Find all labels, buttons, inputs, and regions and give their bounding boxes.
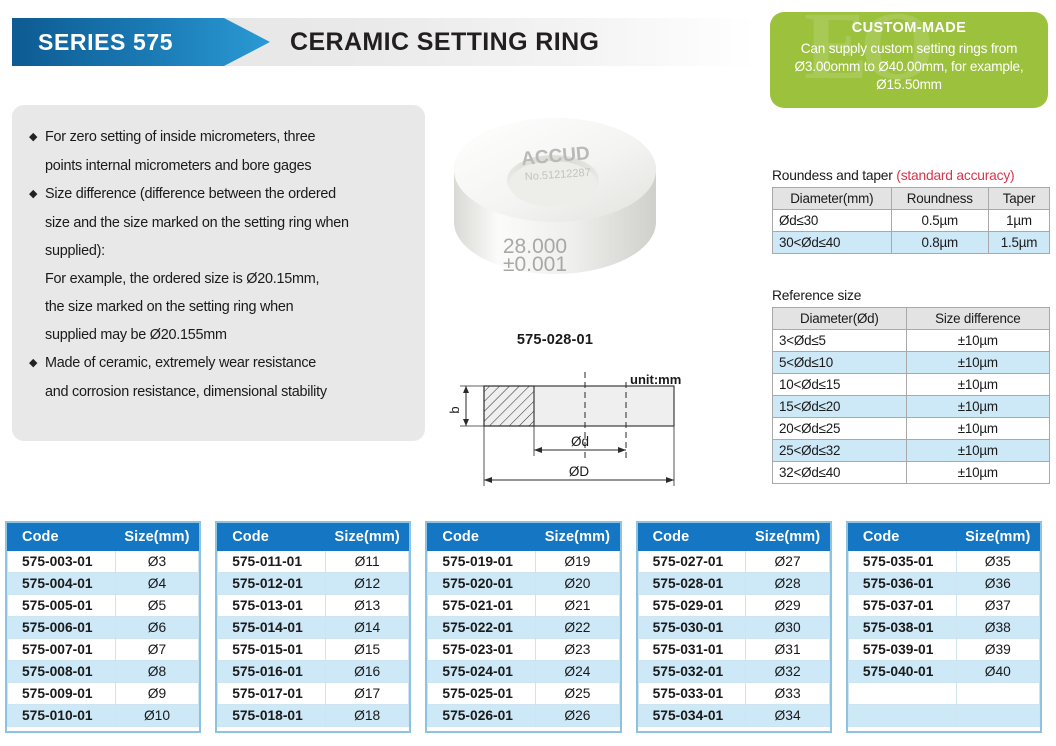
feature-bullet-item: ◆Size difference (difference between the… <box>28 180 409 208</box>
diameter-cell: 15<Ød≤20 <box>773 396 907 418</box>
reference-heading: Reference size <box>772 288 1050 303</box>
table-row: 3<Ød≤5±10µm <box>773 330 1050 352</box>
size-column-header: Size(mm) <box>536 524 619 551</box>
product-code-cell: 575-040-01 <box>848 661 956 683</box>
cross-section-diagram: b Ød ØD <box>448 368 748 498</box>
roundness-heading-accent: (standard accuracy) <box>896 168 1014 183</box>
value-cell: 0.8µm <box>891 232 988 254</box>
diameter-cell: 32<Ød≤40 <box>773 462 907 484</box>
table-row[interactable]: 575-005-01Ø5 <box>8 595 199 617</box>
table-header-row: Diameter(Ød)Size difference <box>773 308 1050 330</box>
feature-list-box: ◆For zero setting of inside micrometers,… <box>12 105 425 441</box>
code-tables-container: CodeSize(mm)575-003-01Ø3575-004-01Ø4575-… <box>0 521 1056 733</box>
product-code-cell: 575-027-01 <box>638 551 746 573</box>
product-size-cell: Ø16 <box>325 661 408 683</box>
table-row: 15<Ød≤20±10µm <box>773 396 1050 418</box>
product-code-cell: 575-034-01 <box>638 705 746 727</box>
product-size-cell: Ø8 <box>115 661 198 683</box>
table-row: Ød≤300.5µm1µm <box>773 210 1050 232</box>
product-code-cell: 575-011-01 <box>218 551 326 573</box>
product-code-cell <box>848 705 956 727</box>
table-row: 5<Ød≤10±10µm <box>773 352 1050 374</box>
product-code-cell: 575-007-01 <box>8 639 116 661</box>
product-size-cell: Ø9 <box>115 683 198 705</box>
table-row[interactable]: 575-015-01Ø15 <box>218 639 409 661</box>
reference-table-body: 3<Ød≤5±10µm5<Ød≤10±10µm10<Ød≤15±10µm15<Ø… <box>773 330 1050 484</box>
product-code-cell: 575-015-01 <box>218 639 326 661</box>
product-code-cell: 575-019-01 <box>428 551 536 573</box>
size-column-header: Size(mm) <box>956 524 1039 551</box>
product-size-cell: Ø6 <box>115 617 198 639</box>
code-table-4: CodeSize(mm)575-027-01Ø27575-028-01Ø2857… <box>636 521 832 733</box>
table-row[interactable]: 575-038-01Ø38 <box>848 617 1039 639</box>
bullet-diamond-icon: ◆ <box>28 349 45 377</box>
table-row: 25<Ød≤32±10µm <box>773 440 1050 462</box>
table-header-row: Diameter(mm)RoundnessTaper <box>773 188 1050 210</box>
product-code-cell: 575-030-01 <box>638 617 746 639</box>
product-code-cell: 575-012-01 <box>218 573 326 595</box>
product-code-table: CodeSize(mm)575-035-01Ø35575-036-01Ø3657… <box>848 523 1040 727</box>
product-code-cell: 575-025-01 <box>428 683 536 705</box>
code-table-5: CodeSize(mm)575-035-01Ø35575-036-01Ø3657… <box>846 521 1042 733</box>
product-size-cell: Ø14 <box>325 617 408 639</box>
table-row[interactable]: 575-029-01Ø29 <box>638 595 829 617</box>
size-column-header: Size(mm) <box>115 524 198 551</box>
product-code-cell: 575-018-01 <box>218 705 326 727</box>
product-code-cell: 575-022-01 <box>428 617 536 639</box>
column-header: Taper <box>988 188 1049 210</box>
product-size-cell: Ø21 <box>536 595 619 617</box>
product-code-cell: 575-013-01 <box>218 595 326 617</box>
bullet-diamond-icon: ◆ <box>28 180 45 208</box>
table-row[interactable]: 575-004-01Ø4 <box>8 573 199 595</box>
product-caption: 575-028-01 <box>440 332 670 348</box>
table-row[interactable]: 575-008-01Ø8 <box>8 661 199 683</box>
table-row[interactable]: 575-037-01Ø37 <box>848 595 1039 617</box>
product-code-cell: 575-032-01 <box>638 661 746 683</box>
table-header-row: CodeSize(mm) <box>848 524 1039 551</box>
diameter-cell: Ød≤30 <box>773 210 892 232</box>
table-row[interactable]: 575-018-01Ø18 <box>218 705 409 727</box>
value-cell: ±10µm <box>906 440 1049 462</box>
product-size-cell: Ø36 <box>956 573 1039 595</box>
table-row[interactable] <box>848 705 1039 727</box>
product-size-cell: Ø23 <box>536 639 619 661</box>
product-size-cell: Ø22 <box>536 617 619 639</box>
product-size-cell: Ø31 <box>746 639 829 661</box>
table-row[interactable]: 575-031-01Ø31 <box>638 639 829 661</box>
table-row: 10<Ød≤15±10µm <box>773 374 1050 396</box>
product-code-cell: 575-008-01 <box>8 661 116 683</box>
product-size-cell: Ø4 <box>115 573 198 595</box>
table-row[interactable] <box>848 683 1039 705</box>
page-title: CERAMIC SETTING RING <box>290 18 599 66</box>
product-size-cell: Ø37 <box>956 595 1039 617</box>
ceramic-ring-illustration: ACCUD No.51212287 28.000 ±0.001 <box>440 108 670 323</box>
custom-made-description: Can supply custom setting rings from Ø3.… <box>782 40 1036 94</box>
product-code-cell: 575-009-01 <box>8 683 116 705</box>
dim-d-label: Ød <box>571 434 589 449</box>
product-size-cell: Ø34 <box>746 705 829 727</box>
product-code-cell: 575-004-01 <box>8 573 116 595</box>
product-code-cell: 575-028-01 <box>638 573 746 595</box>
value-cell: ±10µm <box>906 418 1049 440</box>
series-tag-banner: SERIES 575 <box>12 18 270 66</box>
roundness-taper-section: Roundess and taper (standard accuracy) D… <box>772 168 1050 254</box>
product-size-cell: Ø11 <box>325 551 408 573</box>
diameter-cell: 10<Ød≤15 <box>773 374 907 396</box>
product-size-cell: Ø7 <box>115 639 198 661</box>
value-cell: ±10µm <box>906 330 1049 352</box>
table-row[interactable]: 575-006-01Ø6 <box>8 617 199 639</box>
product-code-cell: 575-017-01 <box>218 683 326 705</box>
table-header-row: CodeSize(mm) <box>428 524 619 551</box>
code-table-3: CodeSize(mm)575-019-01Ø19575-020-01Ø2057… <box>425 521 621 733</box>
product-size-cell: Ø29 <box>746 595 829 617</box>
table-row[interactable]: 575-023-01Ø23 <box>428 639 619 661</box>
table-row[interactable]: 575-040-01Ø40 <box>848 661 1039 683</box>
feature-bullet-continuation: supplied may be Ø20.155mm <box>28 321 409 349</box>
product-size-cell: Ø10 <box>115 705 198 727</box>
diameter-cell: 25<Ød≤32 <box>773 440 907 462</box>
tolerance-engraving: ±0.001 <box>503 253 567 276</box>
size-column-header: Size(mm) <box>746 524 829 551</box>
product-size-cell: Ø28 <box>746 573 829 595</box>
column-header: Diameter(mm) <box>773 188 892 210</box>
feature-bullet-continuation: points internal micrometers and bore gag… <box>28 152 409 180</box>
product-size-cell: Ø32 <box>746 661 829 683</box>
code-table-2: CodeSize(mm)575-011-01Ø11575-012-01Ø1257… <box>215 521 411 733</box>
table-row[interactable]: 575-022-01Ø22 <box>428 617 619 639</box>
table-header-row: CodeSize(mm) <box>638 524 829 551</box>
product-size-cell: Ø19 <box>536 551 619 573</box>
product-code-cell: 575-014-01 <box>218 617 326 639</box>
table-row[interactable]: 575-010-01Ø10 <box>8 705 199 727</box>
product-size-cell: Ø17 <box>325 683 408 705</box>
value-cell: 0.5µm <box>891 210 988 232</box>
table-row: 30<Ød≤400.8µm1.5µm <box>773 232 1050 254</box>
table-row[interactable]: 575-013-01Ø13 <box>218 595 409 617</box>
roundness-heading-main: Roundess and taper <box>772 168 896 183</box>
product-code-cell: 575-035-01 <box>848 551 956 573</box>
table-row[interactable]: 575-007-01Ø7 <box>8 639 199 661</box>
size-column-header: Size(mm) <box>325 524 408 551</box>
feature-bullet-continuation: the size marked on the setting ring when <box>28 293 409 321</box>
table-row[interactable]: 575-014-01Ø14 <box>218 617 409 639</box>
column-header: Diameter(Ød) <box>773 308 907 330</box>
custom-made-title: CUSTOM-MADE <box>782 20 1036 36</box>
table-row[interactable]: 575-009-01Ø9 <box>8 683 199 705</box>
table-row[interactable]: 575-016-01Ø16 <box>218 661 409 683</box>
product-size-cell: Ø13 <box>325 595 408 617</box>
table-row: 20<Ød≤25±10µm <box>773 418 1050 440</box>
table-row[interactable]: 575-012-01Ø12 <box>218 573 409 595</box>
code-column-header: Code <box>428 524 536 551</box>
table-row[interactable]: 575-027-01Ø27 <box>638 551 829 573</box>
code-column-header: Code <box>8 524 116 551</box>
table-row[interactable]: 575-034-01Ø34 <box>638 705 829 727</box>
product-size-cell: Ø3 <box>115 551 198 573</box>
product-size-cell: Ø5 <box>115 595 198 617</box>
table-row[interactable]: 575-036-01Ø36 <box>848 573 1039 595</box>
value-cell: 1µm <box>988 210 1049 232</box>
product-size-cell: Ø25 <box>536 683 619 705</box>
product-code-cell: 575-003-01 <box>8 551 116 573</box>
table-row[interactable]: 575-017-01Ø17 <box>218 683 409 705</box>
code-table-1: CodeSize(mm)575-003-01Ø3575-004-01Ø4575-… <box>5 521 201 733</box>
product-code-table: CodeSize(mm)575-027-01Ø27575-028-01Ø2857… <box>638 523 830 727</box>
table-row[interactable]: 575-019-01Ø19 <box>428 551 619 573</box>
product-code-cell: 575-031-01 <box>638 639 746 661</box>
table-row[interactable]: 575-039-01Ø39 <box>848 639 1039 661</box>
table-row[interactable]: 575-024-01Ø24 <box>428 661 619 683</box>
roundness-taper-table: Diameter(mm)RoundnessTaper Ød≤300.5µm1µm… <box>772 187 1050 254</box>
product-code-table: CodeSize(mm)575-011-01Ø11575-012-01Ø1257… <box>217 523 409 727</box>
table-row[interactable]: 575-030-01Ø30 <box>638 617 829 639</box>
column-header: Roundness <box>891 188 988 210</box>
product-code-cell: 575-037-01 <box>848 595 956 617</box>
custom-made-callout: EO CUSTOM-MADE Can supply custom setting… <box>770 12 1048 108</box>
code-column-header: Code <box>638 524 746 551</box>
product-size-cell: Ø12 <box>325 573 408 595</box>
product-size-cell: Ø38 <box>956 617 1039 639</box>
page-header: SERIES 575 CERAMIC SETTING RING <box>12 18 756 66</box>
value-cell: ±10µm <box>906 462 1049 484</box>
value-cell: 1.5µm <box>988 232 1049 254</box>
value-cell: ±10µm <box>906 396 1049 418</box>
code-column-header: Code <box>218 524 326 551</box>
product-size-cell <box>956 705 1039 727</box>
product-code-cell: 575-024-01 <box>428 661 536 683</box>
product-code-cell: 575-036-01 <box>848 573 956 595</box>
dim-b-label: b <box>448 406 462 413</box>
product-code-cell: 575-020-01 <box>428 573 536 595</box>
diameter-cell: 3<Ød≤5 <box>773 330 907 352</box>
product-code-table: CodeSize(mm)575-019-01Ø19575-020-01Ø2057… <box>427 523 619 727</box>
product-size-cell: Ø15 <box>325 639 408 661</box>
feature-bullet-continuation: and corrosion resistance, dimensional st… <box>28 378 409 406</box>
product-code-cell: 575-006-01 <box>8 617 116 639</box>
table-row[interactable]: 575-028-01Ø28 <box>638 573 829 595</box>
table-header-row: CodeSize(mm) <box>8 524 199 551</box>
feature-bullet-item: ◆Made of ceramic, extremely wear resista… <box>28 349 409 377</box>
dim-D-label: ØD <box>569 464 590 479</box>
feature-bullet-text: Size difference (difference between the … <box>45 180 409 208</box>
product-code-cell: 575-016-01 <box>218 661 326 683</box>
product-code-cell: 575-023-01 <box>428 639 536 661</box>
product-size-cell: Ø35 <box>956 551 1039 573</box>
feature-bullet-text: For zero setting of inside micrometers, … <box>45 123 409 151</box>
product-size-cell: Ø30 <box>746 617 829 639</box>
product-size-cell <box>956 683 1039 705</box>
product-code-table: CodeSize(mm)575-003-01Ø3575-004-01Ø4575-… <box>7 523 199 727</box>
feature-bullet-continuation: supplied): <box>28 237 409 265</box>
diameter-cell: 30<Ød≤40 <box>773 232 892 254</box>
feature-bullet-continuation: For example, the ordered size is Ø20.15m… <box>28 265 409 293</box>
product-size-cell: Ø39 <box>956 639 1039 661</box>
product-size-cell: Ø20 <box>536 573 619 595</box>
product-code-cell: 575-026-01 <box>428 705 536 727</box>
product-size-cell: Ø27 <box>746 551 829 573</box>
table-header-row: CodeSize(mm) <box>218 524 409 551</box>
table-row[interactable]: 575-035-01Ø35 <box>848 551 1039 573</box>
table-row[interactable]: 575-021-01Ø21 <box>428 595 619 617</box>
table-row[interactable]: 575-032-01Ø32 <box>638 661 829 683</box>
roundness-heading: Roundess and taper (standard accuracy) <box>772 168 1050 183</box>
product-code-cell: 575-038-01 <box>848 617 956 639</box>
roundness-table-body: Ød≤300.5µm1µm30<Ød≤400.8µm1.5µm <box>773 210 1050 254</box>
diameter-cell: 20<Ød≤25 <box>773 418 907 440</box>
product-code-cell <box>848 683 956 705</box>
value-cell: ±10µm <box>906 352 1049 374</box>
column-header: Size difference <box>906 308 1049 330</box>
feature-bullet-continuation: size and the size marked on the setting … <box>28 209 409 237</box>
reference-size-table: Diameter(Ød)Size difference 3<Ød≤5±10µm5… <box>772 307 1050 484</box>
value-cell: ±10µm <box>906 374 1049 396</box>
table-row: 32<Ød≤40±10µm <box>773 462 1050 484</box>
bullet-diamond-icon: ◆ <box>28 123 45 151</box>
reference-size-section: Reference size Diameter(Ød)Size differen… <box>772 288 1050 484</box>
table-row[interactable]: 575-033-01Ø33 <box>638 683 829 705</box>
feature-bullet-item: ◆For zero setting of inside micrometers,… <box>28 123 409 151</box>
product-photo: ACCUD No.51212287 28.000 ±0.001 <box>440 108 670 323</box>
diameter-cell: 5<Ød≤10 <box>773 352 907 374</box>
product-size-cell: Ø40 <box>956 661 1039 683</box>
table-row[interactable]: 575-011-01Ø11 <box>218 551 409 573</box>
product-code-cell: 575-039-01 <box>848 639 956 661</box>
product-size-cell: Ø18 <box>325 705 408 727</box>
product-size-cell: Ø26 <box>536 705 619 727</box>
series-label: SERIES 575 <box>12 29 173 56</box>
table-row[interactable]: 575-020-01Ø20 <box>428 573 619 595</box>
table-row[interactable]: 575-003-01Ø3 <box>8 551 199 573</box>
table-row[interactable]: 575-025-01Ø25 <box>428 683 619 705</box>
product-size-cell: Ø33 <box>746 683 829 705</box>
table-row[interactable]: 575-026-01Ø26 <box>428 705 619 727</box>
product-code-cell: 575-029-01 <box>638 595 746 617</box>
product-code-cell: 575-010-01 <box>8 705 116 727</box>
feature-bullet-text: Made of ceramic, extremely wear resistan… <box>45 349 409 377</box>
product-size-cell: Ø24 <box>536 661 619 683</box>
code-column-header: Code <box>848 524 956 551</box>
technical-drawing: b Ød ØD <box>448 368 748 498</box>
product-code-cell: 575-033-01 <box>638 683 746 705</box>
product-code-cell: 575-005-01 <box>8 595 116 617</box>
product-code-cell: 575-021-01 <box>428 595 536 617</box>
